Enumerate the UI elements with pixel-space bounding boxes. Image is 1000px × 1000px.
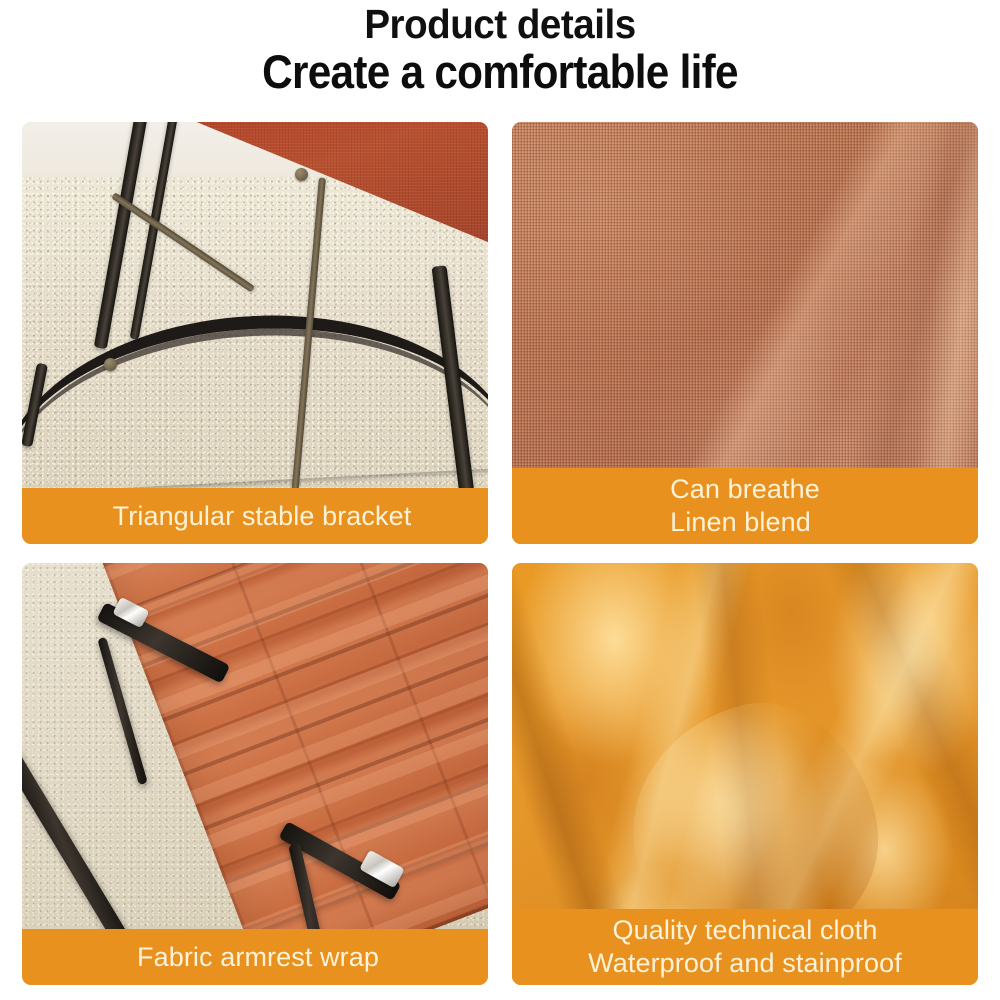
caption-text: Fabric armrest wrap (131, 941, 379, 974)
headline-block: Product details Create a comfortable lif… (0, 0, 1000, 97)
caption-bar: Fabric armrest wrap (22, 929, 488, 985)
brace-joint-bottom (104, 358, 117, 371)
feature-panel-grid: Triangular stable bracket Can breathe Li… (22, 122, 978, 985)
photo-armrest (22, 563, 488, 985)
headline-line-2: Create a comfortable life (50, 47, 950, 97)
feature-panel-can-breathe-linen-blend: Can breathe Linen blend (512, 122, 978, 544)
caption-bar: Quality technical cloth Waterproof and s… (512, 909, 978, 985)
caption-text: Quality technical cloth Waterproof and s… (588, 914, 902, 980)
product-details-infographic: Product details Create a comfortable lif… (0, 0, 1000, 1000)
caption-bar: Triangular stable bracket (22, 488, 488, 544)
caption-text: Triangular stable bracket (99, 500, 412, 533)
feature-panel-triangular-stable-bracket: Triangular stable bracket (22, 122, 488, 544)
photo-rocker-frame (22, 122, 488, 544)
feature-panel-fabric-armrest-wrap: Fabric armrest wrap (22, 563, 488, 985)
feature-panel-quality-technical-cloth: Quality technical cloth Waterproof and s… (512, 563, 978, 985)
caption-bar: Can breathe Linen blend (512, 468, 978, 544)
caption-text: Can breathe Linen blend (670, 473, 820, 539)
headline-line-1: Product details (30, 2, 970, 46)
brace-joint-top (295, 168, 308, 181)
